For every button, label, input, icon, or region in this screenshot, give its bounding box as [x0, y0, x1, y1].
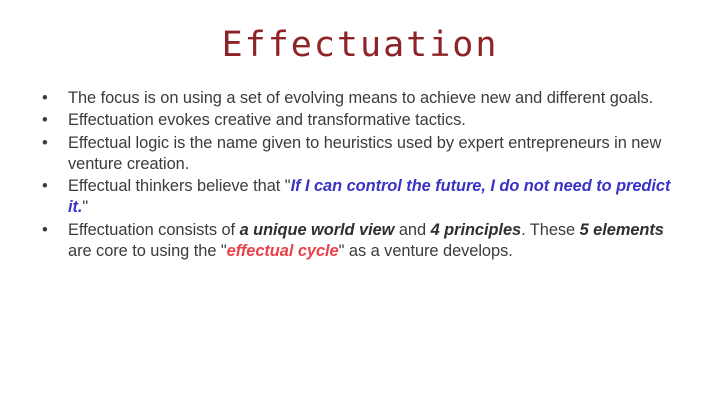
slide-canvas: Effectuation •The focus is on using a se…: [0, 0, 720, 405]
bullet-effectual-logic: Effectual logic is the name given to heu…: [68, 133, 684, 176]
bullet-creative-tactics: Effectuation evokes creative and transfo…: [68, 110, 684, 131]
text-run: Effectuation evokes creative and transfo…: [68, 111, 466, 129]
text-run: Effectual logic is the name given to heu…: [68, 134, 661, 173]
text-run: ": [82, 198, 88, 216]
text-run: effectual cycle: [227, 242, 339, 260]
list-item: •Effectuation evokes creative and transf…: [36, 110, 684, 131]
page-title: Effectuation: [0, 24, 720, 66]
bullet-five-elements: Effectuation consists of a unique world …: [68, 220, 684, 263]
text-run: Effectual thinkers believe that: [68, 177, 285, 195]
text-run: are core to using the: [68, 242, 221, 260]
bullet-point-icon: •: [42, 220, 56, 241]
bullet-point-icon: •: [42, 176, 56, 197]
list-item: •Effectual logic is the name given to he…: [36, 133, 684, 176]
list-item: •Effectuation consists of a unique world…: [36, 220, 684, 263]
text-run: 5 elements: [580, 221, 664, 239]
text-run: as a venture develops.: [344, 242, 512, 260]
bullet-point-icon: •: [42, 88, 56, 109]
bullet-evolving-means: The focus is on using a set of evolving …: [68, 88, 684, 109]
text-run: 4 principles: [431, 221, 522, 239]
bullet-list: •The focus is on using a set of evolving…: [36, 88, 684, 263]
bullet-point-icon: •: [42, 133, 56, 154]
text-run: The focus is on using a set of evolving …: [68, 89, 653, 107]
text-run: and: [394, 221, 430, 239]
bullet-control-future: Effectual thinkers believe that "If I ca…: [68, 176, 684, 219]
text-run: . These: [521, 221, 580, 239]
list-item: •The focus is on using a set of evolving…: [36, 88, 684, 109]
text-run: Effectuation consists of: [68, 221, 240, 239]
text-run: a unique world view: [240, 221, 395, 239]
list-item: •Effectual thinkers believe that "If I c…: [36, 176, 684, 219]
bullet-point-icon: •: [42, 110, 56, 131]
